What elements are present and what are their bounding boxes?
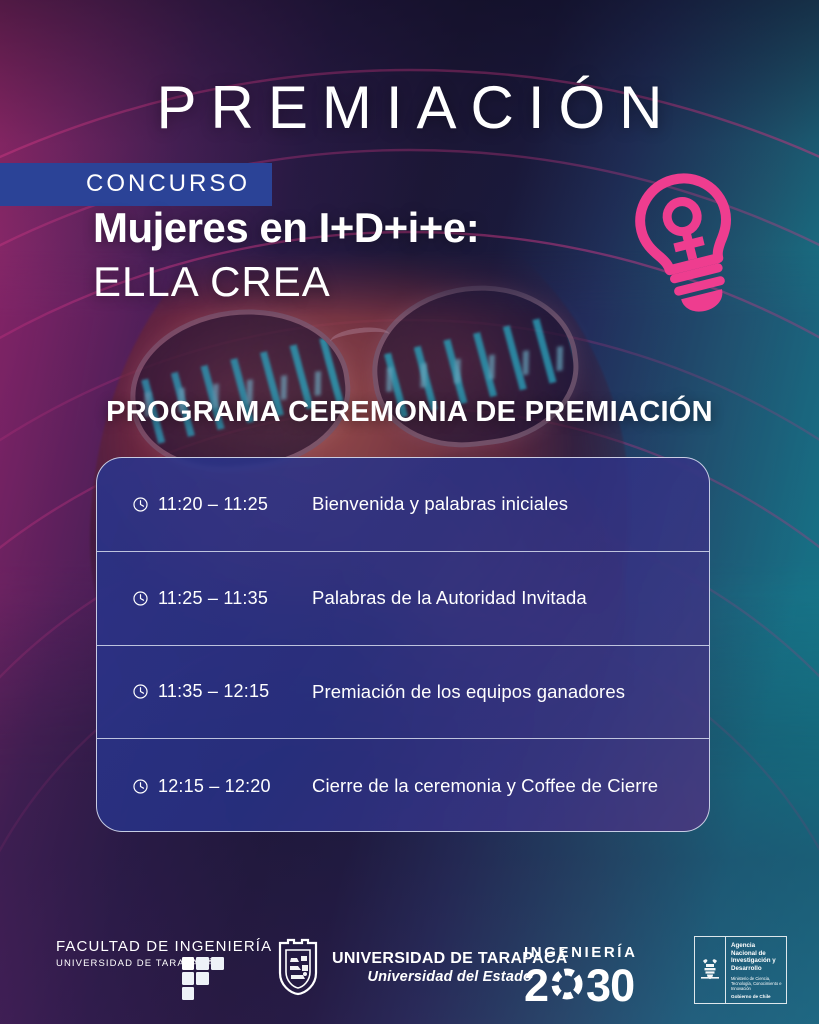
anid-text-block: Agencia Nacional de Investigación y Desa…: [726, 937, 786, 1003]
schedule-time-cell: 11:20 – 11:25: [97, 494, 312, 515]
year-digit-0: 0: [610, 963, 634, 1008]
anid-name: Agencia Nacional de Investigación y Desa…: [731, 942, 782, 972]
anid-ministry: Ministerio de Ciencia, Tecnología, Conoc…: [731, 976, 782, 991]
schedule-description: Palabras de la Autoridad Invitada: [312, 587, 587, 609]
schedule-time-text: 11:20 – 11:25: [158, 494, 268, 515]
lightbulb-female-symbol-icon: [612, 166, 762, 316]
schedule-description: Premiación de los equipos ganadores: [312, 681, 625, 703]
faculty-logo-text: FACULTAD DE INGENIERÍA UNIVERSIDAD DE TA…: [56, 938, 272, 969]
subtitle-line-2: ELLA CREA: [93, 258, 331, 306]
ingenieria-label: INGENIERÍA: [524, 944, 638, 961]
schedule-description: Cierre de la ceremonia y Coffee de Cierr…: [312, 775, 658, 797]
schedule-time-cell: 11:35 – 12:15: [97, 681, 312, 702]
schedule-time-text: 11:35 – 12:15: [158, 681, 269, 702]
schedule-card: 11:20 – 11:25 Bienvenida y palabras inic…: [96, 457, 710, 832]
clock-icon: [132, 683, 149, 700]
schedule-time-cell: 11:25 – 11:35: [97, 588, 312, 609]
faculty-blocks-icon: [182, 957, 230, 1001]
program-heading: PROGRAMA CEREMONIA DE PREMIACIÓN: [0, 396, 819, 429]
schedule-description: Bienvenida y palabras iniciales: [312, 493, 568, 515]
schedule-row: 11:35 – 12:15 Premiación de los equipos …: [97, 646, 709, 740]
faculty-name: FACULTAD DE INGENIERÍA: [56, 938, 272, 955]
year-digit-3: 3: [586, 963, 610, 1008]
schedule-row: 12:15 – 12:20 Cierre de la ceremonia y C…: [97, 739, 709, 832]
schedule-row: 11:25 – 11:35 Palabras de la Autoridad I…: [97, 552, 709, 646]
faculty-university: UNIVERSIDAD DE TARAPACÁ: [56, 958, 272, 969]
sdg-wheel-icon: [549, 966, 585, 1002]
clock-icon: [132, 778, 149, 795]
anid-government: Gobierno de Chile: [731, 994, 771, 999]
anid-coat-of-arms-icon: [695, 937, 726, 1003]
year-digit-2: 2: [524, 963, 548, 1008]
ingenieria-year: 2 3 0: [524, 963, 638, 1008]
clock-icon: [132, 496, 149, 513]
ingenieria-2030-logo: INGENIERÍA 2 3 0: [524, 944, 638, 1008]
university-crest-icon: [276, 938, 320, 996]
schedule-time-cell: 12:15 – 12:20: [97, 776, 312, 797]
poster-canvas: PREMIACIÓN CONCURSO Mujeres en I+D+i+e: …: [0, 0, 819, 1024]
schedule-time-text: 12:15 – 12:20: [158, 776, 271, 797]
schedule-time-text: 11:25 – 11:35: [158, 588, 268, 609]
subtitle-line-1: Mujeres en I+D+i+e:: [93, 204, 479, 252]
schedule-row: 11:20 – 11:25 Bienvenida y palabras inic…: [97, 458, 709, 552]
clock-icon: [132, 590, 149, 607]
kicker-banner: CONCURSO: [0, 163, 272, 206]
anid-logo: Agencia Nacional de Investigación y Desa…: [694, 936, 787, 1004]
page-title: PREMIACIÓN: [0, 78, 819, 138]
